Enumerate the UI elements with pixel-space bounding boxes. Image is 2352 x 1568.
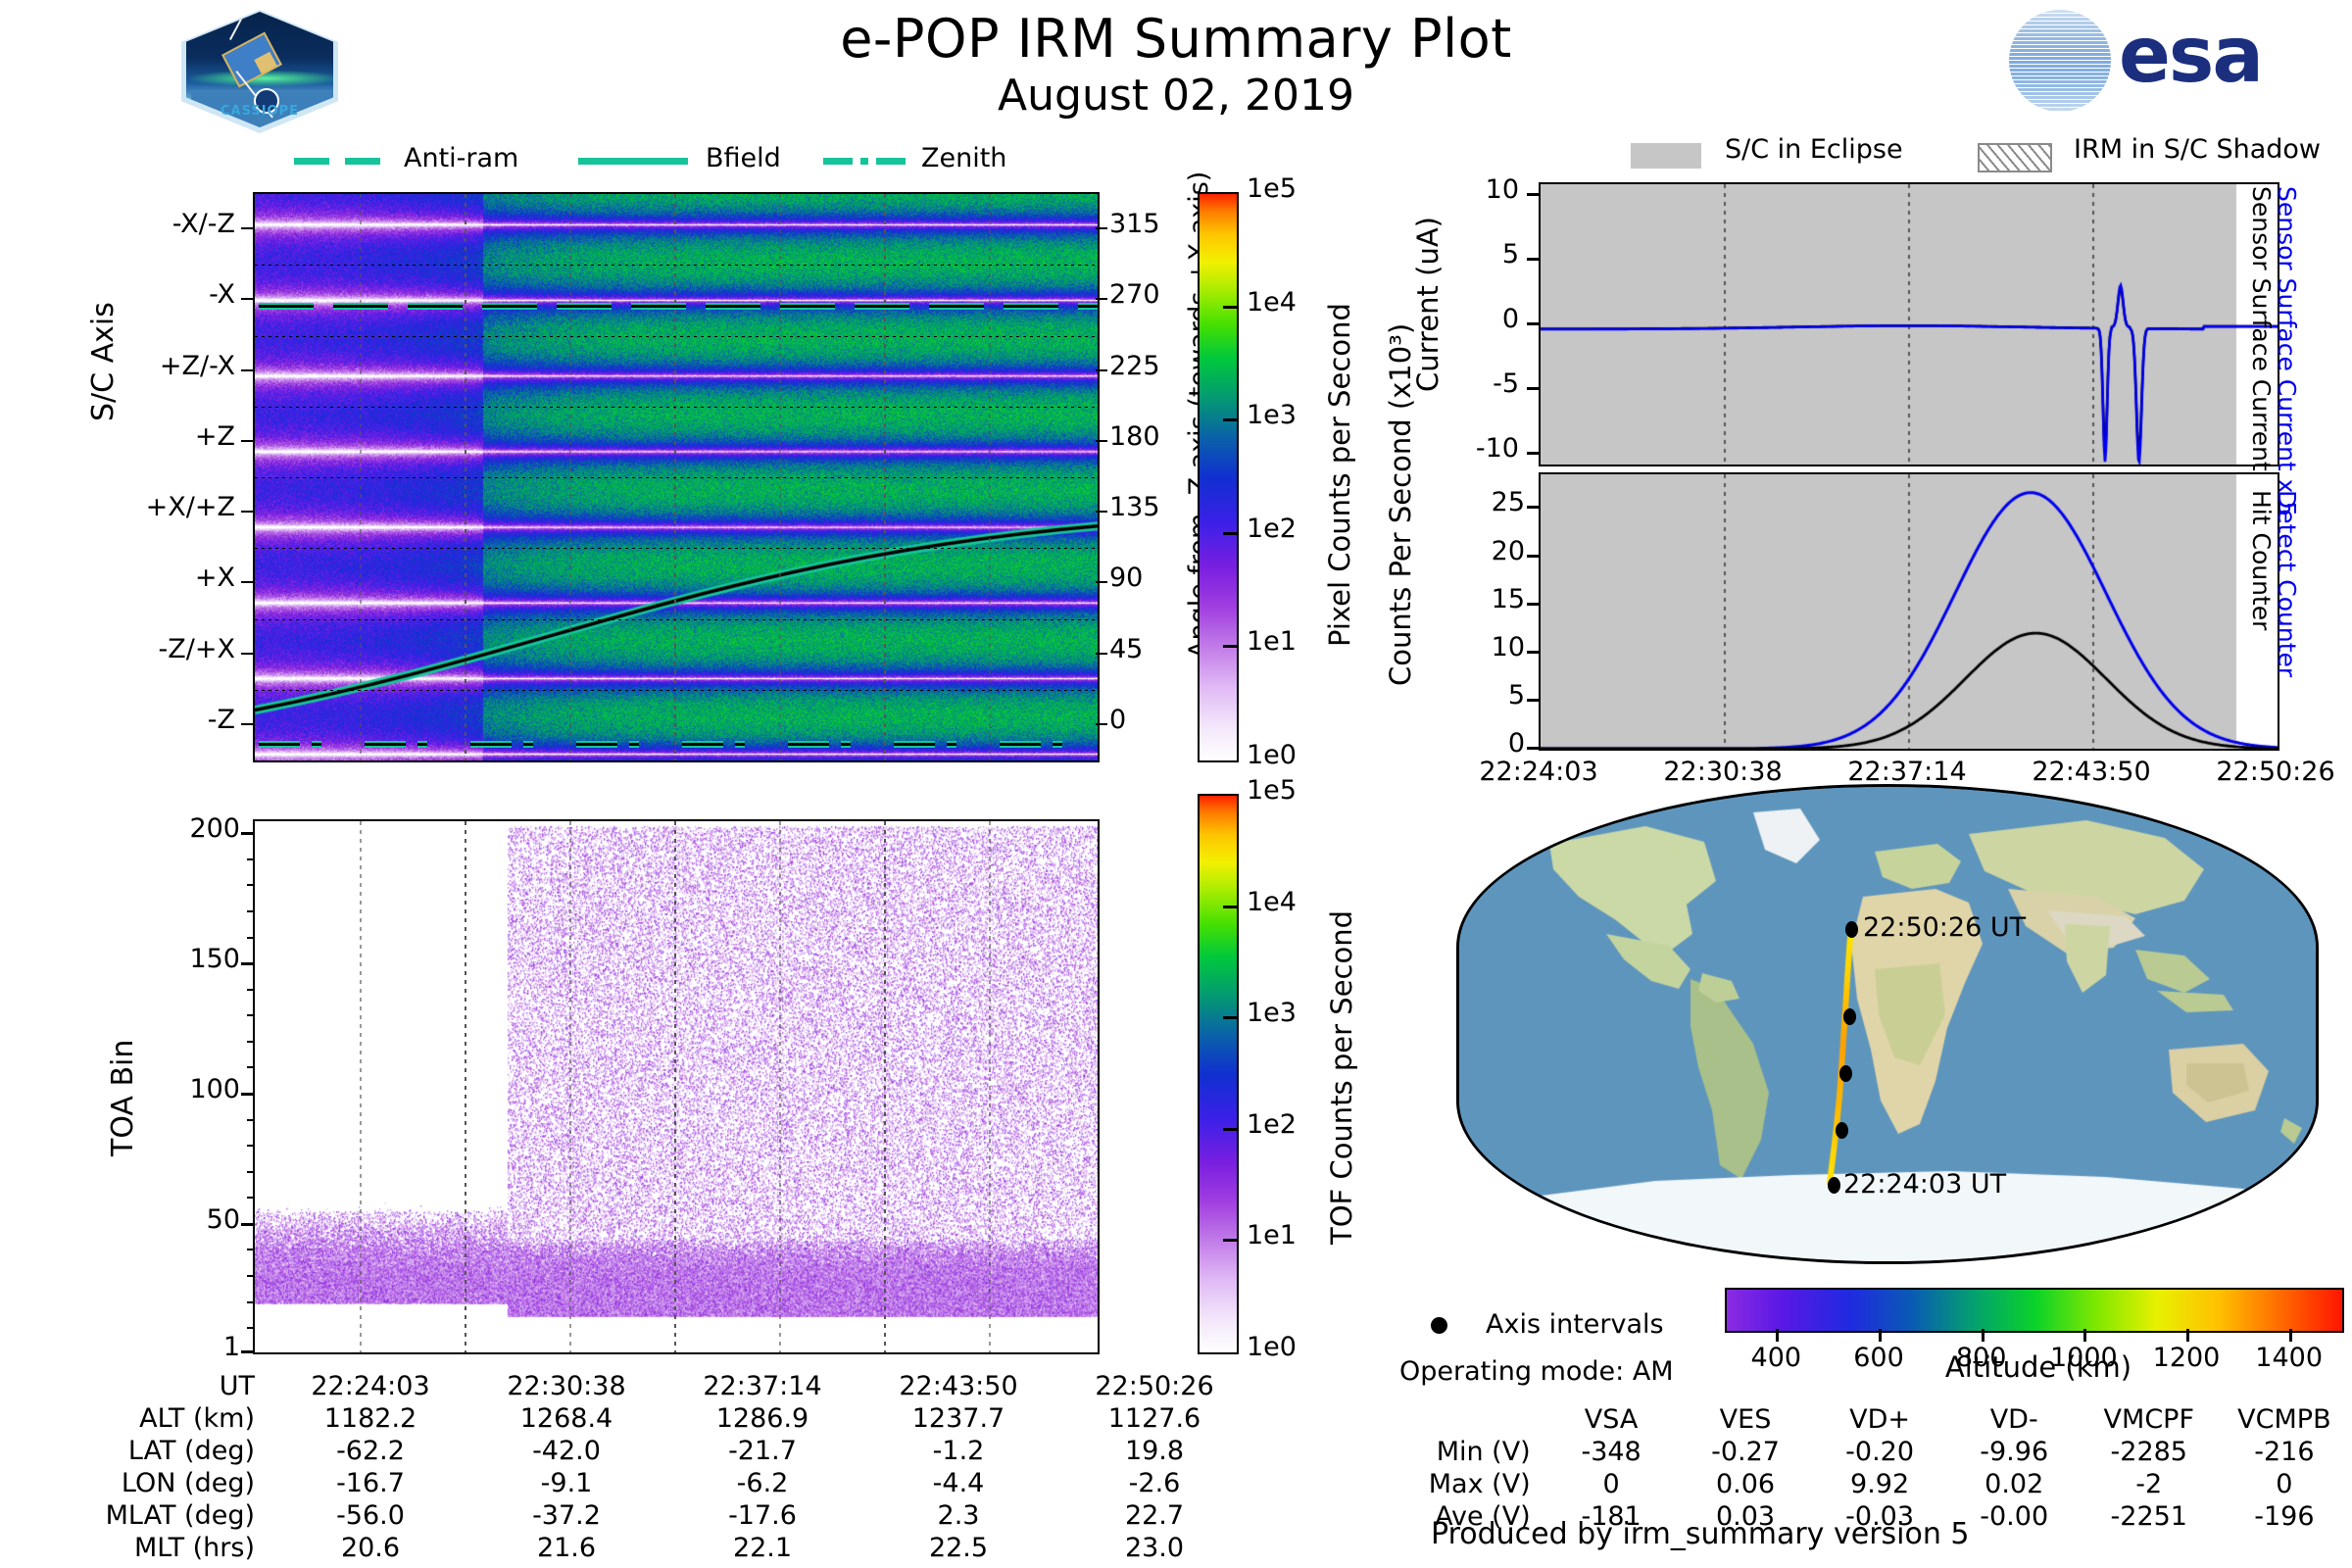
esa-logo-label: esa — [2119, 12, 2262, 100]
panelA-right-tick-label: 315 — [1109, 209, 1160, 239]
ephemeris-cell: 21.6 — [468, 1532, 664, 1564]
voltage-cell: 0.06 — [1678, 1468, 1812, 1500]
map-canvas-clip: 22:50:26 UT 22:24:03 UT — [1456, 784, 2319, 1264]
voltage-cell: 0 — [1544, 1468, 1679, 1500]
page-title: e-POP IRM Summary Plot — [0, 8, 2352, 70]
gridline-vertical — [779, 821, 781, 1352]
panelD-x-tick-label: 22:50:26 — [2178, 757, 2352, 787]
esa-logo: esa — [2009, 8, 2332, 116]
voltage-cell: 9.92 — [1813, 1468, 1947, 1500]
colorbar-tick-label: 1e0 — [1247, 1332, 1297, 1362]
ephemeris-cell: 22:50:26 — [1056, 1370, 1252, 1402]
antiram-overlay-core — [1078, 305, 1100, 308]
panelA-tick-mark — [241, 581, 253, 583]
track-point — [1828, 1177, 1840, 1194]
page-subtitle: August 02, 2019 — [0, 71, 2352, 121]
panelD-ylabel-text: Counts Per Second (x10³) — [1384, 323, 1417, 686]
panelB-tick-label: 50 — [93, 1204, 240, 1235]
antiram-overlay-core — [780, 305, 835, 308]
ephemeris-cell: -42.0 — [468, 1435, 664, 1467]
panelA-tick-label: -Z/+X — [20, 634, 235, 664]
gridline-horizontal — [255, 548, 1098, 549]
colorbar-tick-label: 1e4 — [1247, 887, 1297, 917]
sc-axis-spectrogram-panel[interactable] — [253, 192, 1100, 762]
legend-antiram-dash-2 — [345, 158, 380, 165]
panelD-tick-label: 20 — [1407, 536, 1525, 566]
ephemeris-cell: 22.5 — [860, 1532, 1056, 1564]
panelA-tick-mark — [241, 653, 253, 655]
antiram-overlay-core — [929, 305, 984, 308]
table-row: UT22:24:0322:30:3822:37:1422:43:5022:50:… — [59, 1370, 1252, 1402]
zenith-overlay-core — [682, 743, 723, 746]
voltage-cell: -0.27 — [1678, 1436, 1812, 1468]
table-row: ALT (km)1182.21268.41286.91237.71127.6 — [59, 1402, 1252, 1435]
antiram-overlay-core — [333, 305, 388, 308]
zenith-overlay-core — [365, 743, 406, 746]
ephemeris-cell: 1127.6 — [1056, 1402, 1252, 1435]
panelD-x-tick-label: 22:37:14 — [1809, 757, 2005, 787]
ephemeris-cell: 1268.4 — [468, 1402, 664, 1435]
colorbar-tick-label: 1e1 — [1247, 626, 1297, 657]
panelA-tick-label: -X — [20, 279, 235, 310]
ephemeris-cell: -16.7 — [272, 1467, 468, 1499]
cassiope-logo: CASSIOPE — [181, 10, 338, 127]
table-row: LAT (deg)-62.2-42.0-21.7-1.219.8 — [59, 1435, 1252, 1467]
counts-per-second-panel[interactable] — [1539, 472, 2279, 751]
panelD-tick-label: 25 — [1407, 487, 1525, 517]
ephemeris-cell: -6.2 — [664, 1467, 860, 1499]
antiram-overlay-core — [482, 305, 537, 308]
voltage-cell: -2 — [2082, 1468, 2217, 1500]
zenith-overlay-core — [629, 743, 639, 746]
panelA-right-tick-label: 0 — [1109, 705, 1126, 735]
panelA-ylabel-wrap: S/C Axis — [86, 421, 206, 456]
gridline-vertical — [465, 821, 466, 1352]
colorbar-tick-label: 1e2 — [1247, 1109, 1297, 1140]
altitude-colorbar — [1725, 1288, 2344, 1333]
map-start-time-label: 22:24:03 UT — [1843, 1169, 2006, 1200]
antiram-overlay-core — [706, 305, 760, 308]
ephemeris-cell: 22:30:38 — [468, 1370, 664, 1402]
antiram-overlay-core — [557, 305, 612, 308]
voltage-column-header: VMCPF — [2082, 1403, 2217, 1436]
altitude-tick-label: 600 — [1815, 1343, 1942, 1373]
ephemeris-cell: 1182.2 — [272, 1402, 468, 1435]
gridline-vertical — [360, 821, 362, 1352]
legend-antiram-dash-1 — [294, 158, 329, 165]
ephemeris-cell: 2.3 — [860, 1499, 1056, 1532]
eclipse-swatch-icon — [1631, 143, 1701, 169]
ephemeris-cell: -17.6 — [664, 1499, 860, 1532]
panelA-right-tick-label: 225 — [1109, 351, 1160, 381]
panelA-tick-mark — [241, 298, 253, 300]
zenith-overlay-core — [523, 743, 533, 746]
ephemeris-cell: 23.0 — [1056, 1532, 1252, 1564]
panelB-ylabel: TOA Bin — [106, 1040, 140, 1156]
table-row: MLAT (deg)-56.0-37.2-17.62.322.7 — [59, 1499, 1252, 1532]
gridline-vertical — [989, 821, 991, 1352]
voltage-cell: 0.02 — [1947, 1468, 2082, 1500]
panelD-tick-label: 15 — [1407, 584, 1525, 614]
ephemeris-cell: 20.6 — [272, 1532, 468, 1564]
panelA-right-tick-label: 180 — [1109, 421, 1160, 452]
zenith-overlay-core — [841, 743, 851, 746]
panelC-tick-label: -10 — [1401, 433, 1519, 464]
ephemeris-cell: 1237.7 — [860, 1402, 1056, 1435]
gridline-vertical — [569, 821, 571, 1352]
colorbar-tick-label: 1e3 — [1247, 400, 1297, 430]
ephemeris-cell: -9.1 — [468, 1467, 664, 1499]
shadow-swatch-icon — [1978, 143, 2052, 172]
antiram-overlay-core — [259, 305, 314, 308]
ephemeris-row-header: LAT (deg) — [59, 1435, 272, 1467]
ephemeris-row-header: LON (deg) — [59, 1467, 272, 1499]
ephemeris-cell: 22:43:50 — [860, 1370, 1056, 1402]
voltage-cell: 0 — [2217, 1468, 2352, 1500]
panelD-right-label-black: Hit Counter — [2247, 490, 2276, 630]
ephemeris-row-header: UT — [59, 1370, 272, 1402]
tof-counts-colorbar-label: TOF Counts per Second — [1325, 910, 1358, 1245]
ephemeris-cell: -1.2 — [860, 1435, 1056, 1467]
voltage-cell: -0.20 — [1813, 1436, 1947, 1468]
tof-counts-colorbar — [1198, 794, 1239, 1354]
panelA-tick-mark — [241, 723, 253, 725]
pixel-counts-colorbar-gradient — [1200, 194, 1237, 760]
panelA-right-tick-label: 270 — [1109, 279, 1160, 310]
colorbar-tick-label: 1e1 — [1247, 1220, 1297, 1250]
ground-track-map[interactable]: 22:50:26 UT 22:24:03 UT — [1456, 784, 2319, 1264]
track-point — [1845, 921, 1858, 938]
panelA-right-tick-label: 90 — [1109, 563, 1143, 593]
ephemeris-row-header: MLT (hrs) — [59, 1532, 272, 1564]
voltage-column-header: VCMPB — [2217, 1403, 2352, 1436]
zenith-overlay-core — [417, 743, 427, 746]
voltage-column-header: VD+ — [1813, 1403, 1947, 1436]
table-row: LON (deg)-16.7-9.1-6.2-4.4-2.6 — [59, 1467, 1252, 1499]
panelA-tick-label: -Z — [20, 705, 235, 735]
zenith-overlay-core — [259, 743, 300, 746]
panelA-tick-label: +X — [20, 563, 235, 593]
map-end-time-label: 22:50:26 UT — [1863, 912, 2026, 943]
gridline-horizontal — [255, 619, 1098, 620]
altitude-tick-label: 400 — [1712, 1343, 1839, 1373]
orbit-vector-legend: Anti-ram Bfield Zenith — [294, 147, 1039, 180]
gridline-vertical — [884, 821, 886, 1352]
voltage-row-header: Max (V) — [1401, 1468, 1544, 1500]
zenith-overlay-core — [947, 743, 956, 746]
colorbar-tick-label: 1e4 — [1247, 287, 1297, 318]
altitude-tick-label: 1200 — [2123, 1343, 2250, 1373]
table-header-row: VSAVESVD+VD-VMCPFVCMPB — [1401, 1403, 2352, 1436]
zenith-overlay-core — [788, 743, 829, 746]
ephemeris-cell: 1286.9 — [664, 1402, 860, 1435]
ephemeris-cell: -37.2 — [468, 1499, 664, 1532]
panelA-tick-mark — [241, 369, 253, 371]
legend-zenith-dash — [823, 158, 853, 165]
gridline-horizontal — [255, 265, 1098, 266]
voltage-cell: -348 — [1544, 1436, 1679, 1468]
legend-zenith-dash-2 — [876, 158, 906, 165]
legend-bfield-line — [578, 158, 688, 165]
panelD-ylabel: Counts Per Second (x10³) — [1384, 323, 1417, 686]
antiram-overlay-core — [408, 305, 463, 308]
voltage-summary-table: VSAVESVD+VD-VMCPFVCMPBMin (V)-348-0.27-0… — [1401, 1403, 2352, 1533]
gridline-vertical — [674, 821, 676, 1352]
antiram-overlay-core — [855, 305, 909, 308]
zenith-overlay-core — [312, 743, 321, 746]
panelD-tick-label: 0 — [1407, 728, 1525, 759]
antiram-overlay-core — [1004, 305, 1058, 308]
esa-globe-icon — [2009, 10, 2111, 112]
voltage-column-header: VES — [1678, 1403, 1812, 1436]
panelB-tick-label: 150 — [93, 944, 240, 974]
voltage-column-header: VSA — [1544, 1403, 1679, 1436]
table-row: Max (V)00.069.920.02-20 — [1401, 1468, 2352, 1500]
altitude-colorbar-label: Altitude (km) — [1940, 1350, 2136, 1384]
colorbar-tick-label: 1e0 — [1247, 740, 1297, 770]
table-row: MLT (hrs)20.621.622.122.523.0 — [59, 1532, 1252, 1564]
ephemeris-cell: -21.7 — [664, 1435, 860, 1467]
altitude-colorbar-gradient — [1727, 1290, 2342, 1331]
voltage-cell: -2285 — [2082, 1436, 2217, 1468]
panelA-tick-mark — [241, 227, 253, 229]
zenith-overlay-core — [470, 743, 512, 746]
panelA-tick-label: +X/+Z — [20, 492, 235, 522]
zenith-overlay-core — [894, 743, 935, 746]
panelB-tick-label: 1 — [93, 1332, 240, 1362]
panelC-right-label-blue: Sensor Surface Current x 5 — [2273, 186, 2301, 516]
legend-label-shadow: IRM in S/C Shadow — [2074, 134, 2321, 165]
track-point — [1843, 1008, 1856, 1025]
panelA-tick-mark — [241, 440, 253, 442]
panelD-x-tick-label: 22:30:38 — [1625, 757, 1821, 787]
panelA-tick-label: +Z/-X — [20, 351, 235, 381]
panelC-right-label-black-wrap: Sensor Surface Current — [2276, 186, 2352, 215]
panelD-right-label-black-wrap: Hit Counter — [2276, 490, 2352, 518]
voltage-corner-cell — [1401, 1403, 1544, 1436]
colorbar-tick-label: 1e2 — [1247, 514, 1297, 544]
panelC-tick-label: 10 — [1401, 174, 1519, 205]
voltage-cell: -9.96 — [1947, 1436, 2082, 1468]
table-row: Min (V)-348-0.27-0.20-9.96-2285-216 — [1401, 1436, 2352, 1468]
pixel-counts-colorbar — [1198, 192, 1239, 762]
panelA-right-tick-label: 45 — [1109, 634, 1143, 664]
panelD-x-tick-label: 22:43:50 — [1993, 757, 2189, 787]
panelB-tick-label: 200 — [93, 813, 240, 844]
satellite-boom-icon — [229, 0, 252, 40]
zenith-overlay-core — [576, 743, 617, 746]
colorbar-tick-label: 1e5 — [1247, 173, 1297, 204]
ephemeris-cell: -2.6 — [1056, 1467, 1252, 1499]
pixel-counts-colorbar-label: Pixel Counts per Second — [1323, 303, 1356, 647]
legend-label-eclipse: S/C in Eclipse — [1725, 134, 1903, 165]
ephemeris-table: UT22:24:0322:30:3822:37:1422:43:5022:50:… — [59, 1370, 1274, 1564]
track-point — [1839, 1065, 1852, 1082]
track-point — [1836, 1122, 1848, 1139]
gridline-horizontal — [255, 690, 1098, 691]
legend-label-antiram: Anti-ram — [404, 143, 518, 173]
legend-label-bfield: Bfield — [706, 143, 781, 173]
shading-legend: S/C in Eclipse IRM in S/C Shadow — [1568, 139, 2332, 174]
ephemeris-cell: -56.0 — [272, 1499, 468, 1532]
panelA-tick-mark — [241, 511, 253, 513]
panelA-tick-label: -X/-Z — [20, 209, 235, 239]
voltage-column-header: VD- — [1947, 1403, 2082, 1436]
toa-bin-spectrogram-panel[interactable] — [253, 819, 1100, 1354]
colorbar-tick-label: 1e3 — [1247, 998, 1297, 1028]
voltage-cell: -2251 — [2082, 1500, 2217, 1533]
ephemeris-cell: -4.4 — [860, 1467, 1056, 1499]
antiram-overlay-core — [631, 305, 686, 308]
ephemeris-cell: 22:24:03 — [272, 1370, 468, 1402]
zenith-overlay-core — [1000, 743, 1041, 746]
produced-by-label: Produced by irm_summary version 5 — [1431, 1517, 1969, 1551]
panelA-right-tick-label: 135 — [1109, 492, 1160, 522]
axis-intervals-label: Axis intervals — [1486, 1309, 1664, 1340]
gridline-horizontal — [255, 477, 1098, 478]
surface-current-panel[interactable] — [1539, 182, 2279, 466]
gridline-horizontal — [255, 407, 1098, 408]
voltage-row-header: Min (V) — [1401, 1436, 1544, 1468]
panelD-x-tick-label: 22:24:03 — [1441, 757, 1637, 787]
ephemeris-cell: 22:37:14 — [664, 1370, 860, 1402]
altitude-tick-label: 1400 — [2226, 1343, 2352, 1373]
ephemeris-row-header: ALT (km) — [59, 1402, 272, 1435]
voltage-cell: -196 — [2217, 1500, 2352, 1533]
ephemeris-row-header: MLAT (deg) — [59, 1499, 272, 1532]
axis-interval-dot-icon — [1431, 1317, 1447, 1334]
ephemeris-cell: 19.8 — [1056, 1435, 1252, 1467]
panelB-ylabel-wrap: TOA Bin — [106, 1156, 222, 1191]
ephemeris-cell: 22.1 — [664, 1532, 860, 1564]
cassiope-logo-label: CASSIOPE — [181, 104, 338, 119]
operating-mode-label: Operating mode: AM — [1399, 1356, 1674, 1387]
zenith-overlay-core — [1053, 743, 1062, 746]
gridline-horizontal — [255, 336, 1098, 337]
voltage-cell: -216 — [2217, 1436, 2352, 1468]
zenith-overlay-core — [735, 743, 745, 746]
ephemeris-cell: -62.2 — [272, 1435, 468, 1467]
tof-counts-colorbar-gradient — [1200, 796, 1237, 1352]
legend-label-zenith: Zenith — [921, 143, 1006, 173]
colorbar-tick-label: 1e5 — [1247, 775, 1297, 806]
ephemeris-cell: 22.7 — [1056, 1499, 1252, 1532]
panelA-ylabel: S/C Axis — [86, 302, 121, 421]
legend-zenith-dot — [860, 158, 868, 165]
panelC-right-label-black: Sensor Surface Current — [2247, 186, 2276, 471]
